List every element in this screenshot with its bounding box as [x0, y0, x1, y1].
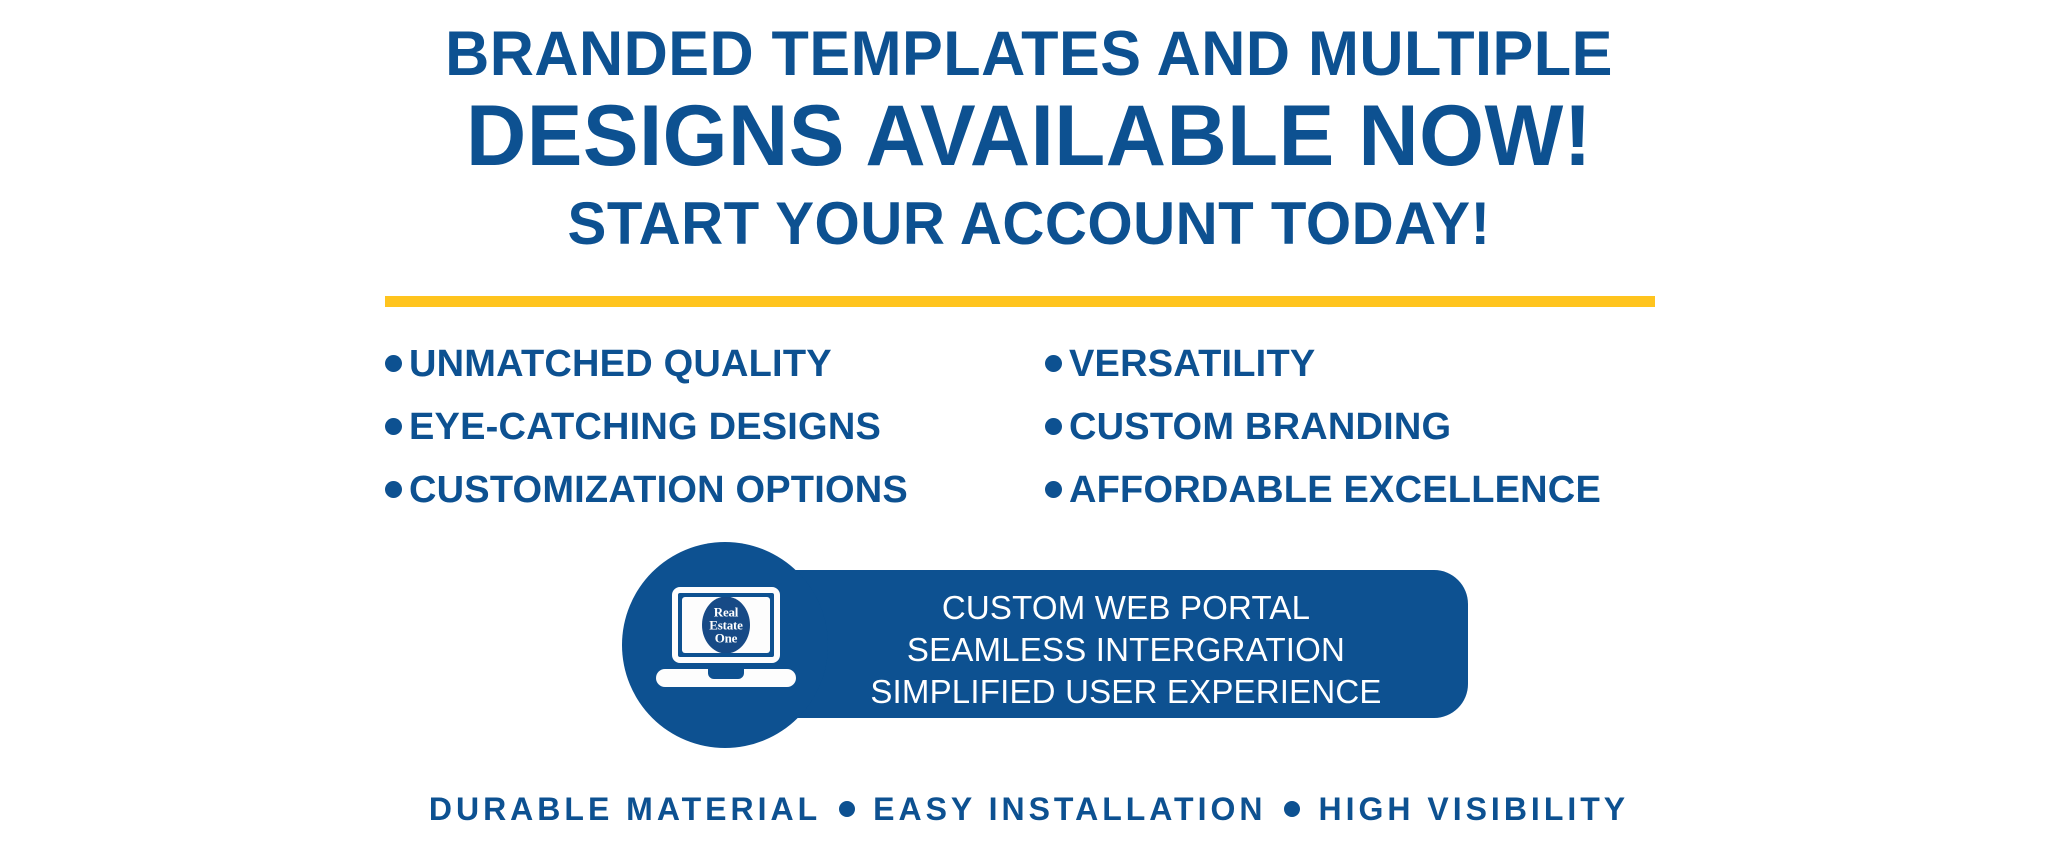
feature-item: UNMATCHED QUALITY	[385, 332, 1045, 395]
feature-label: UNMATCHED QUALITY	[409, 344, 832, 384]
bottom-tagline: DURABLE MATERIAL EASY INSTALLATION HIGH …	[0, 790, 2058, 828]
real-estate-one-logo: Real Estate One	[702, 597, 750, 653]
feature-label: EYE-CATCHING DESIGNS	[409, 407, 881, 447]
bullet-dot-icon	[1045, 355, 1062, 372]
logo-line-3: One	[715, 632, 738, 645]
bullet-dot-icon	[385, 481, 402, 498]
feature-item: VERSATILITY	[1045, 332, 1675, 395]
badge-line: CUSTOM WEB PORTAL	[840, 587, 1412, 629]
feature-column-left: UNMATCHED QUALITY EYE-CATCHING DESIGNS C…	[385, 332, 1045, 521]
feature-item: EYE-CATCHING DESIGNS	[385, 395, 1045, 458]
badge-line: SEAMLESS INTERGRATION	[840, 629, 1412, 671]
headline-block: BRANDED TEMPLATES AND MULTIPLE DESIGNS A…	[0, 0, 2058, 260]
feature-label: CUSTOM BRANDING	[1069, 407, 1451, 447]
feature-list: UNMATCHED QUALITY EYE-CATCHING DESIGNS C…	[385, 332, 1675, 521]
tagline-item-1: DURABLE MATERIAL	[429, 790, 821, 828]
badge-line: SIMPLIFIED USER EXPERIENCE	[840, 671, 1412, 713]
tagline-bullet-dot-icon	[1284, 801, 1300, 817]
web-portal-badge: Real Estate One CUSTOM WEB PORTAL SEAMLE…	[622, 542, 1412, 752]
laptop-screen: Real Estate One	[682, 597, 770, 653]
badge-circle-background: Real Estate One	[622, 542, 828, 748]
headline-line-3: START YOUR ACCOUNT TODAY!	[31, 188, 2027, 260]
headline-line-2: DESIGNS AVAILABLE NOW!	[31, 90, 2027, 182]
bullet-dot-icon	[1045, 481, 1062, 498]
laptop-notch	[708, 669, 744, 679]
feature-item: CUSTOM BRANDING	[1045, 395, 1675, 458]
bullet-dot-icon	[385, 418, 402, 435]
feature-item: AFFORDABLE EXCELLENCE	[1045, 458, 1675, 521]
promo-banner: BRANDED TEMPLATES AND MULTIPLE DESIGNS A…	[0, 0, 2058, 860]
bullet-dot-icon	[1045, 418, 1062, 435]
tagline-item-3: HIGH VISIBILITY	[1318, 790, 1629, 828]
gold-divider	[385, 296, 1655, 307]
badge-text-block: CUSTOM WEB PORTAL SEAMLESS INTERGRATION …	[840, 587, 1412, 713]
headline-line-1: BRANDED TEMPLATES AND MULTIPLE	[31, 18, 2027, 90]
feature-label: CUSTOMIZATION OPTIONS	[409, 470, 908, 510]
laptop-lid: Real Estate One	[672, 587, 780, 663]
feature-label: VERSATILITY	[1069, 344, 1315, 384]
feature-label: AFFORDABLE EXCELLENCE	[1069, 470, 1601, 510]
laptop-icon: Real Estate One	[656, 587, 796, 697]
feature-item: CUSTOMIZATION OPTIONS	[385, 458, 1045, 521]
tagline-item-2: EASY INSTALLATION	[873, 790, 1266, 828]
feature-column-right: VERSATILITY CUSTOM BRANDING AFFORDABLE E…	[1045, 332, 1675, 521]
tagline-bullet-dot-icon	[839, 801, 855, 817]
bullet-dot-icon	[385, 355, 402, 372]
